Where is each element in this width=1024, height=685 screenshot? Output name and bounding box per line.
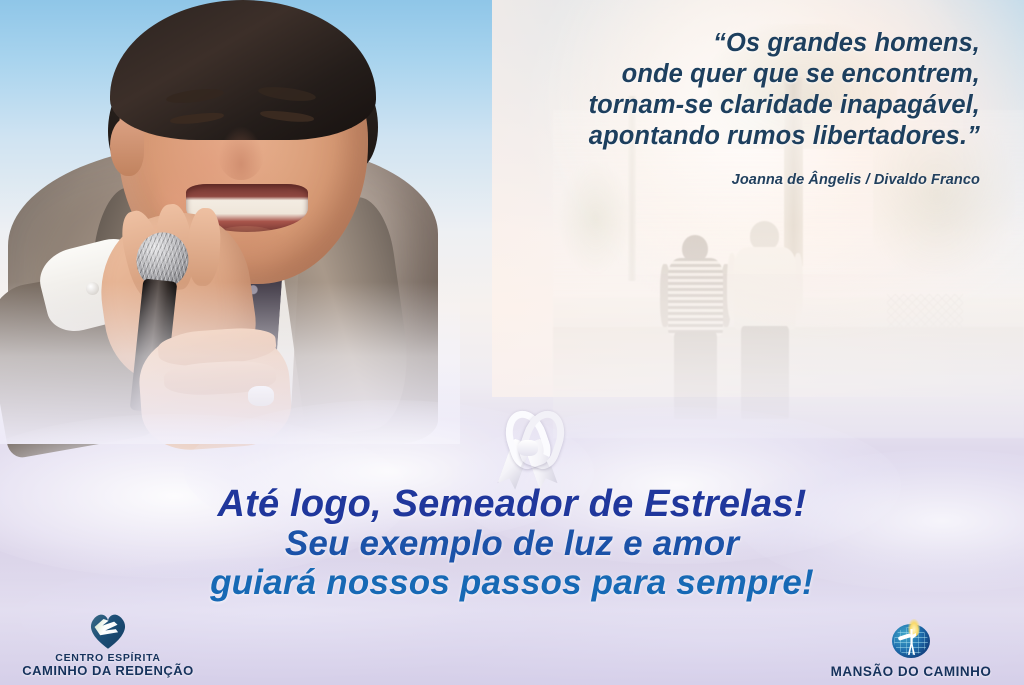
scene-fade-overlay [553, 110, 1024, 439]
quote-line-1: “Os grandes homens, [280, 28, 980, 59]
mourning-ribbon-icon [495, 410, 561, 490]
quote-line-3: tornam-se claridade inapagável, [280, 90, 980, 121]
headline-line-2: Seu exemplo de luz e amor [0, 524, 1024, 563]
globe-with-figure-icon [889, 621, 933, 661]
park-scene-background [553, 110, 1024, 439]
quote-line-4: apontando rumos libertadores.” [280, 121, 980, 152]
logo-centro-espirita: CENTRO ESPÍRITA CAMINHO DA REDENÇÃO [8, 612, 208, 679]
headline-line-3: guiará nossos passos para sempre! [0, 563, 1024, 602]
memorial-poster: “Os grandes homens, onde quer que se enc… [0, 0, 1024, 685]
nose [218, 126, 264, 180]
headline-line-1: Até logo, Semeador de Estrelas! [0, 485, 1024, 524]
headline-message: Até logo, Semeador de Estrelas! Seu exem… [0, 485, 1024, 602]
heart-with-hands-icon [88, 612, 128, 650]
quote-line-2: onde quer que se encontrem, [280, 59, 980, 90]
quote-attribution: Joanna de Ângelis / Divaldo Franco [280, 172, 980, 188]
ribbon-knot [518, 440, 538, 456]
quote-text: “Os grandes homens, onde quer que se enc… [280, 28, 980, 152]
logo-left-line-2: CAMINHO DA REDENÇÃO [8, 664, 208, 679]
logo-right-line-2: MANSÃO DO CAMINHO [806, 664, 1016, 679]
logo-mansao-do-caminho: MANSÃO DO CAMINHO [806, 621, 1016, 679]
portrait-fade-overlay [0, 282, 460, 444]
